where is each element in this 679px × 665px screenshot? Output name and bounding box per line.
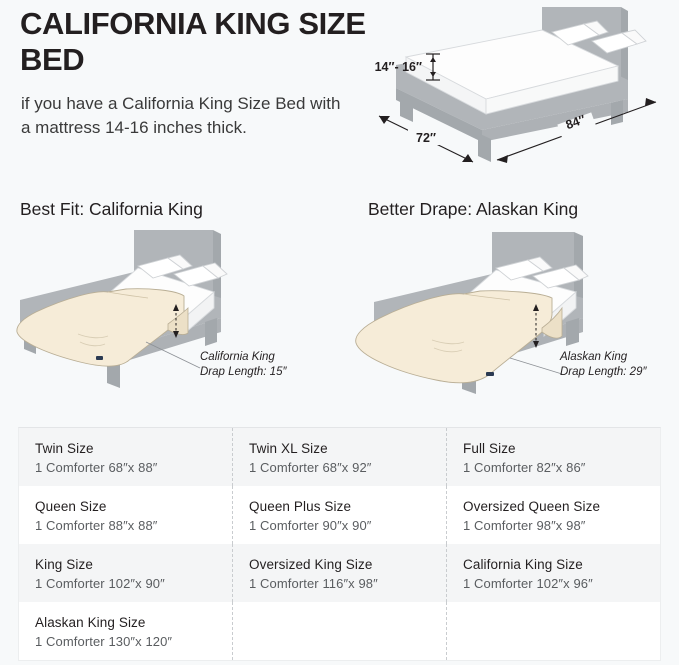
table-row: King Size1 Comforter 102″x 90″Oversized … bbox=[19, 544, 660, 602]
size-cell-empty bbox=[447, 602, 660, 660]
page-title: CALIFORNIA KING SIZE BED bbox=[20, 6, 380, 78]
size-name: King Size bbox=[35, 557, 232, 572]
table-row: Alaskan King Size1 Comforter 130″x 120″ bbox=[19, 602, 660, 660]
infographic-page: CALIFORNIA KING SIZE BED if you have a C… bbox=[0, 0, 679, 665]
comforter-size-table: Twin Size1 Comforter 68″x 88″Twin XL Siz… bbox=[18, 427, 661, 661]
size-cell: Twin Size1 Comforter 68″x 88″ bbox=[19, 428, 233, 486]
size-dimensions: 1 Comforter 116″x 98″ bbox=[249, 576, 446, 591]
section-heading-best-fit: Best Fit: California King bbox=[20, 199, 203, 220]
alaskan-king-drape-callout: Alaskan King Drap Length: 29″ bbox=[560, 350, 647, 380]
size-cell: Queen Plus Size1 Comforter 90″x 90″ bbox=[233, 486, 447, 544]
size-dimensions: 1 Comforter 98″x 98″ bbox=[463, 518, 660, 533]
section-heading-better-drape: Better Drape: Alaskan King bbox=[368, 199, 578, 220]
size-name: California King Size bbox=[463, 557, 660, 572]
hero-width-label: 72″ bbox=[416, 131, 436, 145]
size-cell-empty bbox=[233, 602, 447, 660]
size-cell: Alaskan King Size1 Comforter 130″x 120″ bbox=[19, 602, 233, 660]
size-dimensions: 1 Comforter 130″x 120″ bbox=[35, 634, 232, 649]
size-name: Oversized Queen Size bbox=[463, 499, 660, 514]
callout-line-1: Alaskan King bbox=[560, 350, 647, 365]
size-name: Oversized King Size bbox=[249, 557, 446, 572]
size-name: Twin Size bbox=[35, 441, 232, 456]
size-name: Queen Size bbox=[35, 499, 232, 514]
size-cell: California King Size1 Comforter 102″x 96… bbox=[447, 544, 660, 602]
size-dimensions: 1 Comforter 82″x 86″ bbox=[463, 460, 660, 475]
page-subtitle: if you have a California King Size Bed w… bbox=[21, 92, 346, 141]
size-cell: Full Size1 Comforter 82″x 86″ bbox=[447, 428, 660, 486]
size-name: Queen Plus Size bbox=[249, 499, 446, 514]
callout-line-1: California King bbox=[200, 350, 287, 365]
hero-thickness-label: 14″- 16″ bbox=[375, 60, 422, 74]
size-cell: Oversized Queen Size1 Comforter 98″x 98″ bbox=[447, 486, 660, 544]
size-dimensions: 1 Comforter 102″x 96″ bbox=[463, 576, 660, 591]
size-cell: Oversized King Size1 Comforter 116″x 98″ bbox=[233, 544, 447, 602]
size-dimensions: 1 Comforter 102″x 90″ bbox=[35, 576, 232, 591]
table-row: Queen Size1 Comforter 88″x 88″Queen Plus… bbox=[19, 486, 660, 544]
callout-line-2: Drap Length: 29″ bbox=[560, 365, 647, 380]
callout-line-2: Drap Length: 15″ bbox=[200, 365, 287, 380]
size-name: Alaskan King Size bbox=[35, 615, 232, 630]
hero-bed-diagram: 14″- 16″ 72″ 84″ bbox=[356, 2, 676, 177]
size-name: Full Size bbox=[463, 441, 660, 456]
size-cell: King Size1 Comforter 102″x 90″ bbox=[19, 544, 233, 602]
size-dimensions: 1 Comforter 68″x 92″ bbox=[249, 460, 446, 475]
size-dimensions: 1 Comforter 88″x 88″ bbox=[35, 518, 232, 533]
size-dimensions: 1 Comforter 90″x 90″ bbox=[249, 518, 446, 533]
table-row: Twin Size1 Comforter 68″x 88″Twin XL Siz… bbox=[19, 428, 660, 486]
size-dimensions: 1 Comforter 68″x 88″ bbox=[35, 460, 232, 475]
size-name: Twin XL Size bbox=[249, 441, 446, 456]
size-cell: Queen Size1 Comforter 88″x 88″ bbox=[19, 486, 233, 544]
california-king-drape-callout: California King Drap Length: 15″ bbox=[200, 350, 287, 380]
size-cell: Twin XL Size1 Comforter 68″x 92″ bbox=[233, 428, 447, 486]
